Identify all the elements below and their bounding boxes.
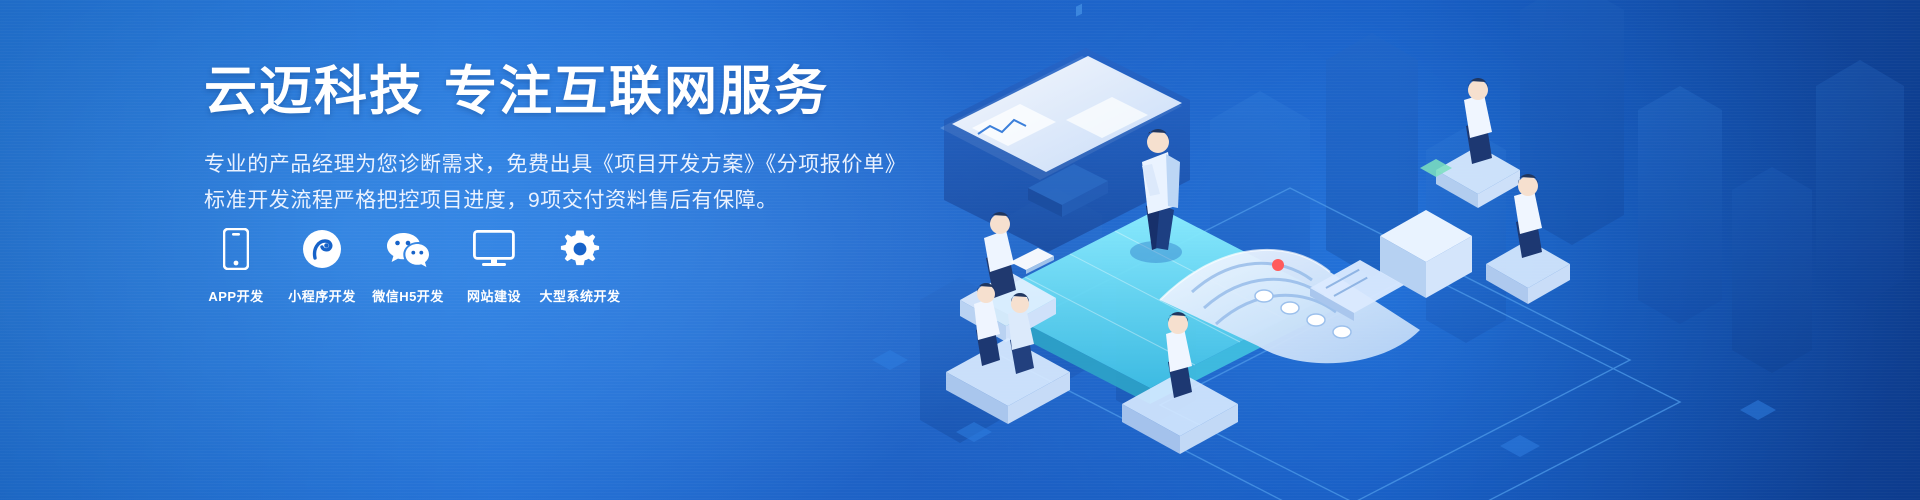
service-label: 小程序开发 xyxy=(288,286,356,305)
mobile-phone-icon xyxy=(213,228,259,270)
service-label: APP开发 xyxy=(208,286,263,305)
service-label: 微信H5开发 xyxy=(372,286,444,305)
page-title: 云迈科技专注互联网服务 xyxy=(204,62,924,121)
subtitle: 专业的产品经理为您诊断需求，免费出具《项目开发方案》《分项报价单》 标准开发流程… xyxy=(204,147,924,219)
monitor-icon xyxy=(471,228,517,270)
service-label: 大型系统开发 xyxy=(540,286,621,305)
service-item-wechat-h5[interactable]: 微信H5开发 xyxy=(372,228,444,305)
service-list: APP开发 小程序开发 xyxy=(200,228,630,305)
wechat-icon xyxy=(385,228,431,270)
service-label: 网站建设 xyxy=(467,286,521,305)
headline-brand: 云迈科技 xyxy=(204,62,424,121)
subtitle-line-1: 专业的产品经理为您诊断需求，免费出具《项目开发方案》《分项报价单》 xyxy=(204,147,924,183)
subtitle-line-2: 标准开发流程严格把控项目进度，9项交付资料售后有保障。 xyxy=(204,183,924,219)
isometric-illustration xyxy=(860,0,1920,500)
service-item-website[interactable]: 网站建设 xyxy=(458,228,530,305)
service-item-app[interactable]: APP开发 xyxy=(200,228,272,305)
copy-block: 云迈科技专注互联网服务 专业的产品经理为您诊断需求，免费出具《项目开发方案》《分… xyxy=(204,62,924,219)
service-item-miniprogram[interactable]: 小程序开发 xyxy=(286,228,358,305)
mini-program-icon xyxy=(299,228,345,270)
gear-icon xyxy=(557,228,603,270)
service-item-large-system[interactable]: 大型系统开发 xyxy=(544,228,616,305)
headline-tagline: 专注互联网服务 xyxy=(444,62,829,121)
promo-banner: 云迈科技专注互联网服务 专业的产品经理为您诊断需求，免费出具《项目开发方案》《分… xyxy=(0,0,1920,500)
